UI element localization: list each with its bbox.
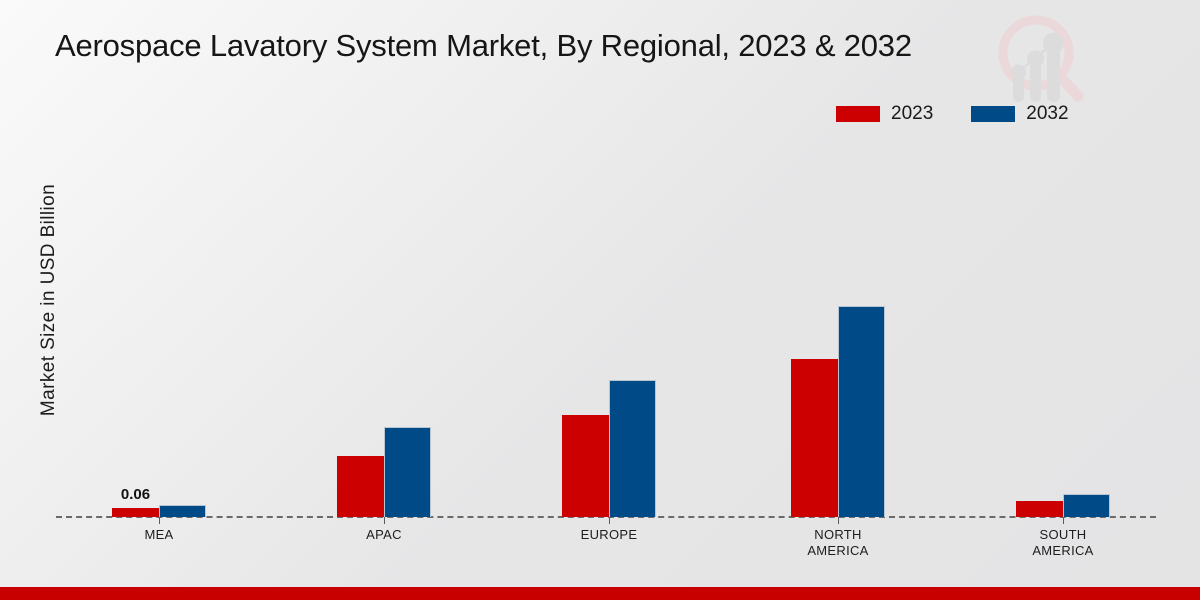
x-axis-label-south-america: SOUTHAMERICA [983,527,1143,559]
bar-2032-mea[interactable] [159,505,206,517]
x-axis-label-line: MEA [79,527,239,543]
x-axis-label-line: AMERICA [758,543,918,559]
bar-2032-apac[interactable] [384,427,431,517]
x-axis-tick [384,517,385,524]
x-axis-label-mea: MEA [79,527,239,543]
bar-2032-south-america[interactable] [1063,494,1110,517]
x-axis-label-europe: EUROPE [529,527,689,543]
bar-2023-mea[interactable] [112,508,159,517]
x-axis-tick [609,517,610,524]
bar-2023-south-america[interactable] [1016,501,1063,517]
chart-canvas: Aerospace Lavatory System Market, By Reg… [0,0,1200,600]
bar-2032-europe[interactable] [609,380,656,517]
x-axis-label-line: NORTH [758,527,918,543]
bottom-accent-strip [0,587,1200,600]
x-axis-label-line: AMERICA [983,543,1143,559]
x-axis-tick [1063,517,1064,524]
bar-2023-north-america[interactable] [791,359,838,517]
x-axis-tick [159,517,160,524]
x-axis-label-north-america: NORTHAMERICA [758,527,918,559]
x-axis-label-line: SOUTH [983,527,1143,543]
x-axis-label-apac: APAC [304,527,464,543]
x-axis-label-line: EUROPE [529,527,689,543]
x-axis-label-line: APAC [304,527,464,543]
x-axis-tick [838,517,839,524]
bar-value-label: 0.06 [96,486,176,503]
bar-2032-north-america[interactable] [838,306,885,517]
bar-2023-apac[interactable] [337,456,384,517]
plot-area: MEA0.06APACEUROPENORTHAMERICASOUTHAMERIC… [0,0,1200,600]
bar-2023-europe[interactable] [562,415,609,517]
